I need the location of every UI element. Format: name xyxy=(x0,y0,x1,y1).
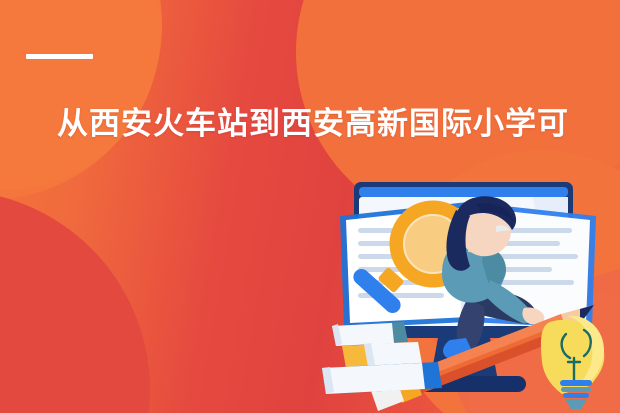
accent-rule xyxy=(26,54,93,59)
page-title: 从西安火车站到西安高新国际小学可 xyxy=(57,104,617,144)
student-riding-pencil-study-illustration xyxy=(318,176,620,413)
yellow-idea-lightbulb xyxy=(541,316,604,409)
bulb-base xyxy=(560,380,592,409)
banner-image: 从西安火车站到西安高新国际小学可 xyxy=(0,0,620,413)
